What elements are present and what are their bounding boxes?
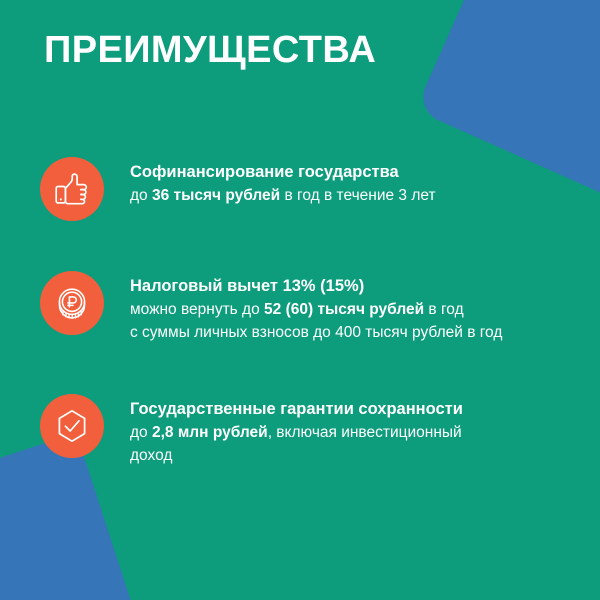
benefit-line: до 2,8 млн рублей, включая инвестиционны… [130,421,463,444]
benefit-title: Государственные гарантии сохранности [130,398,463,421]
benefit-title: Налоговый вычет 13% (15%) [130,275,502,298]
benefits-list: Софинансирование государства до 36 тысяч… [40,157,570,467]
benefit-item: Налоговый вычет 13% (15%) можно вернуть … [40,271,570,344]
benefit-icon-badge [40,157,104,221]
benefit-line: с суммы личных взносов до 400 тысяч рубл… [130,321,502,344]
ruble-coin-icon [53,284,91,322]
benefit-line: можно вернуть до 52 (60) тысяч рублей в … [130,298,502,321]
benefit-text-block: Государственные гарантии сохранности до … [130,394,463,467]
benefit-text-block: Налоговый вычет 13% (15%) можно вернуть … [130,271,502,344]
benefit-body: до 2,8 млн рублей, включая инвестиционны… [130,421,463,467]
benefit-title: Софинансирование государства [130,161,436,184]
thumbs-up-icon [53,170,91,208]
benefit-icon-badge [40,394,104,458]
benefit-body: до 36 тысяч рублей в год в течение 3 лет [130,184,436,207]
hexagon-check-icon [53,407,91,445]
benefit-line: доход [130,444,463,467]
benefit-body: можно вернуть до 52 (60) тысяч рублей в … [130,298,502,344]
benefit-item: Софинансирование государства до 36 тысяч… [40,157,570,221]
benefit-line: до 36 тысяч рублей в год в течение 3 лет [130,184,436,207]
benefit-text-block: Софинансирование государства до 36 тысяч… [130,157,436,207]
benefit-item: Государственные гарантии сохранности до … [40,394,570,467]
page-title: ПРЕИМУЩЕСТВА [44,26,376,74]
slide-canvas: ПРЕИМУЩЕСТВА Софинансирование государс [0,0,600,600]
benefit-icon-badge [40,271,104,335]
